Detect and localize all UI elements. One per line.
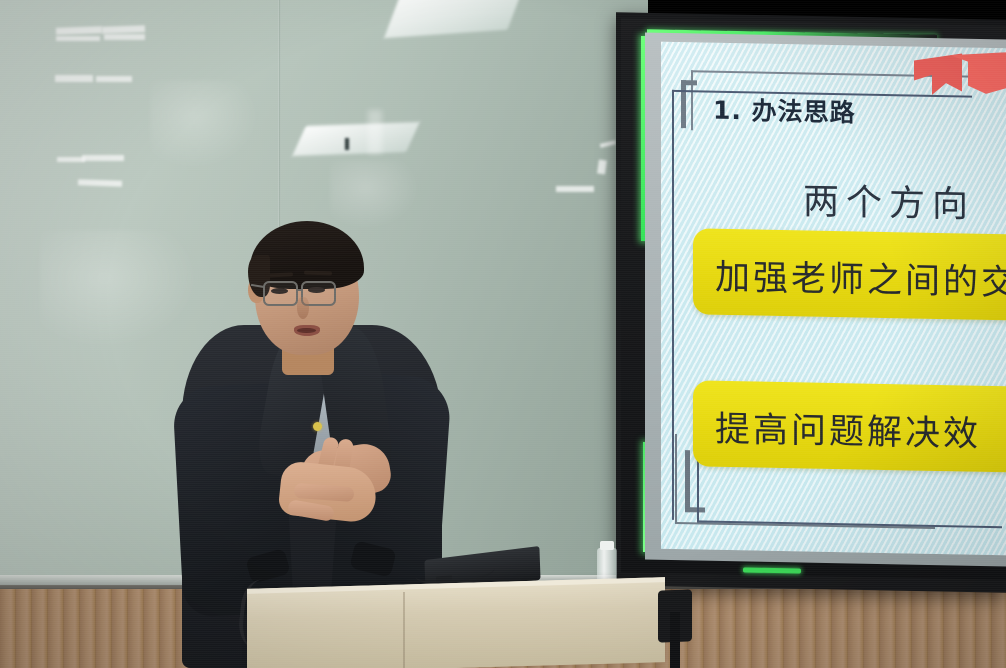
presenter-mouth-inner: [297, 328, 316, 333]
screen-mount-pole: [670, 612, 680, 668]
light-reflection: [82, 155, 124, 161]
screen-power-led: [743, 567, 801, 573]
light-reflection: [56, 26, 102, 35]
presentation-slide: 1. 办法思路 两个方向 加强老师之间的交 提高问题解决效: [661, 42, 1006, 556]
light-reflection: [102, 25, 145, 33]
lectern-panel-seam: [403, 592, 405, 668]
light-reflection: [104, 34, 145, 40]
light-reflection: [55, 75, 93, 82]
slide-highlight-box-1: 加强老师之间的交: [693, 228, 1006, 321]
slide-bullet-1-text: 加强老师之间的交: [715, 249, 1006, 306]
light-reflection: [597, 160, 607, 175]
slide-title: 1. 办法思路: [713, 91, 856, 130]
slide-subtitle: 两个方向: [803, 172, 975, 227]
light-reflection: [57, 157, 85, 162]
light-reflection: [96, 76, 132, 82]
presenter-nose: [297, 297, 309, 319]
presentation-photo-scene: 1. 办法思路 两个方向 加强老师之间的交 提高问题解决效: [0, 0, 1006, 668]
reflection-detail: [345, 138, 349, 150]
light-reflection: [556, 186, 594, 192]
window-reflection: [292, 122, 419, 156]
light-reflection: [600, 140, 616, 148]
light-reflection: [368, 110, 382, 154]
water-bottle-cap: [600, 541, 614, 550]
light-reflection: [78, 179, 122, 187]
window-reflection: [384, 0, 524, 38]
slide-highlight-box-2: 提高问题解决效: [693, 380, 1006, 473]
lapel-pin-icon: [313, 422, 322, 431]
light-reflection: [56, 36, 100, 41]
red-ribbon-icon: [910, 50, 1006, 100]
glasses-lens-left-icon: [263, 281, 298, 306]
board-smudge: [150, 80, 260, 170]
glasses-bridge-icon: [297, 289, 303, 291]
slide-bullet-2-text: 提高问题解决效: [715, 401, 981, 457]
